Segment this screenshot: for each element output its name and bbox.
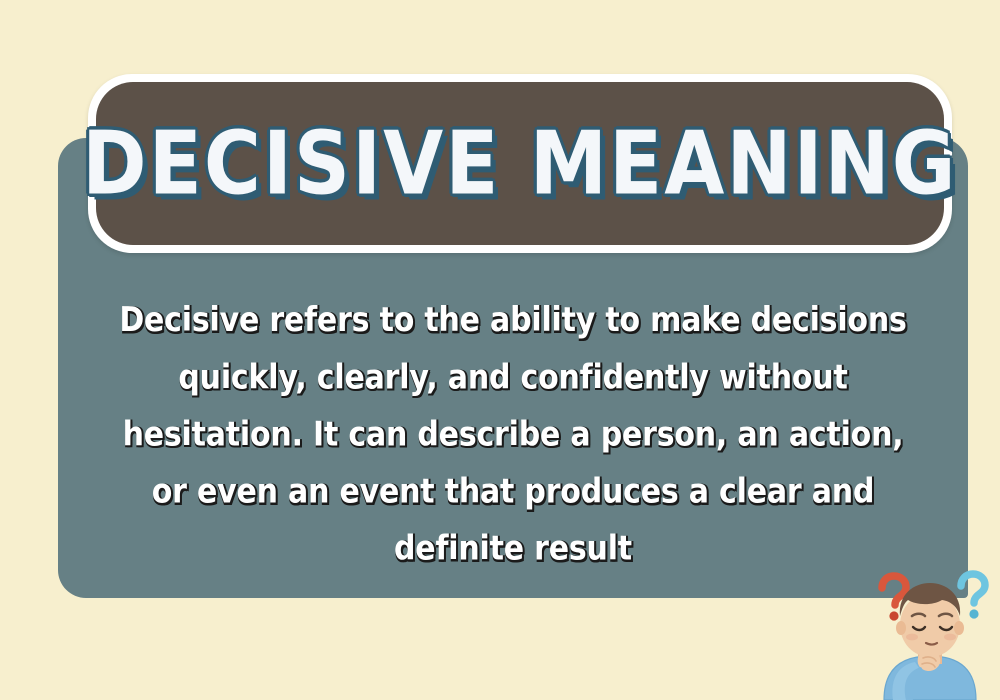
thinking-man-illustration [860, 550, 1000, 700]
page-title: DECISIVE MEANING [82, 113, 958, 214]
title-banner-frame: DECISIVE MEANING [88, 74, 952, 253]
body-paragraph: Decisive refers to the ability to make d… [110, 292, 916, 578]
poster-canvas: DECISIVE MEANING Decisive refers to the … [0, 0, 1000, 700]
title-banner: DECISIVE MEANING [96, 82, 944, 245]
question-mark-blue-icon [961, 574, 985, 619]
